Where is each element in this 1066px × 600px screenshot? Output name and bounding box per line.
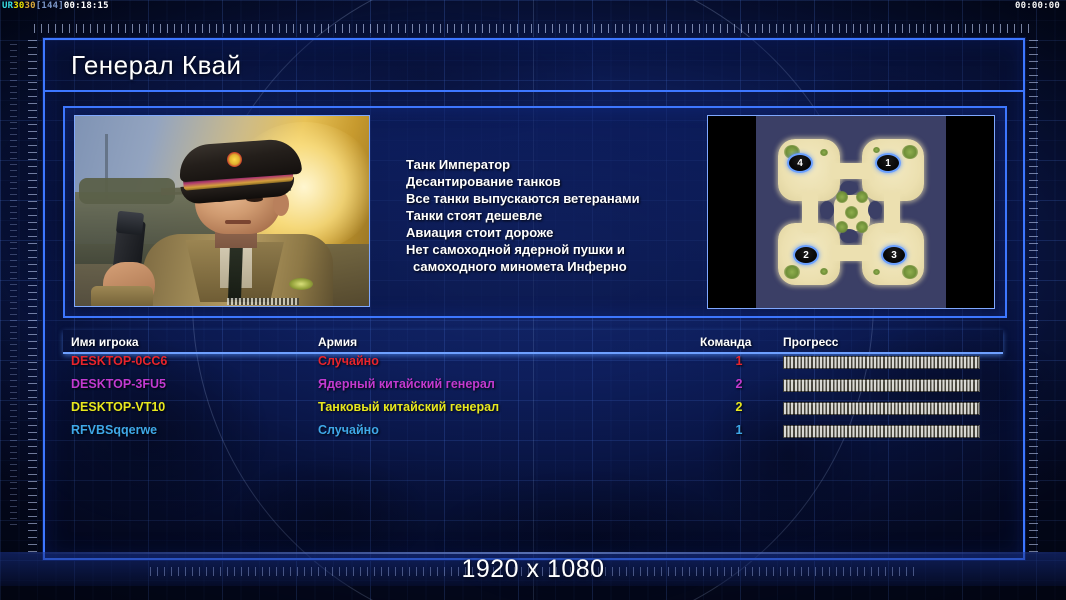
player-table-body: DESKTOP-0CC6 Случайно 1 DESKTOP-3FU5 Яде…	[63, 352, 1003, 538]
table-row[interactable]: DESKTOP-VT10 Танковый китайский генерал …	[63, 398, 1003, 421]
resolution-label: 1920 x 1080	[461, 555, 604, 584]
fps-overlay: UR3030[144]00:18:15	[2, 1, 109, 12]
ruler-ticks-left	[28, 40, 37, 554]
player-army: Танковый китайский генерал	[318, 400, 499, 414]
player-team: 1	[729, 423, 749, 437]
session-timer-right: 00:00:00	[1015, 1, 1060, 12]
player-team: 1	[729, 354, 749, 368]
page-title: Генерал Квай	[71, 50, 242, 81]
player-table-header: Имя игрока Армия Команда Прогресс	[63, 330, 1003, 354]
player-name: DESKTOP-VT10	[71, 400, 165, 414]
player-progress-bar	[783, 425, 980, 438]
player-team: 2	[729, 377, 749, 391]
player-name: DESKTOP-3FU5	[71, 377, 166, 391]
fps-extra: [144]	[36, 1, 64, 11]
table-row[interactable]: DESKTOP-3FU5 Ядерный китайский генерал 2	[63, 375, 1003, 398]
session-timer-left: 00:18:15	[64, 1, 109, 11]
minimap-preview: 4 1 2 3	[707, 115, 995, 309]
ruler-ticks-right	[1029, 40, 1038, 554]
player-progress-bar	[783, 402, 980, 415]
start-position-marker[interactable]: 3	[881, 245, 907, 265]
column-header-progress: Прогресс	[783, 335, 838, 349]
fps-value-secondary: 30	[25, 1, 36, 11]
window-title-bar: Генерал Квай	[45, 40, 1023, 92]
player-progress-bar	[783, 379, 980, 392]
column-header-player: Имя игрока	[71, 335, 139, 349]
table-row[interactable]: DESKTOP-0CC6 Случайно 1	[63, 352, 1003, 375]
player-army: Случайно	[318, 423, 379, 437]
column-header-army: Армия	[318, 335, 357, 349]
player-army: Случайно	[318, 354, 379, 368]
loading-window: Генерал Квай Танк Император Десантирован…	[43, 38, 1025, 560]
start-position-marker[interactable]: 4	[787, 153, 813, 173]
fps-label: UR	[2, 1, 13, 11]
game-screen: UR3030[144]00:18:15 00:00:00 Генерал Ква…	[0, 0, 1066, 600]
player-team: 2	[729, 400, 749, 414]
general-info-panel: Танк Император Десантирование танков Все…	[63, 106, 1007, 318]
general-portrait	[74, 115, 370, 307]
player-name: DESKTOP-0CC6	[71, 354, 167, 368]
start-position-marker[interactable]: 2	[793, 245, 819, 265]
table-row[interactable]: RFVBSqqerwe Случайно 1	[63, 421, 1003, 444]
resolution-banner: 1920 x 1080	[0, 552, 1066, 586]
player-progress-bar	[783, 356, 980, 369]
ruler-ticks-top	[34, 24, 1032, 33]
column-header-team: Команда	[700, 335, 751, 349]
player-army: Ядерный китайский генерал	[318, 377, 495, 391]
fps-value: 30	[13, 1, 24, 11]
player-name: RFVBSqqerwe	[71, 423, 157, 437]
start-position-marker[interactable]: 1	[875, 153, 901, 173]
ruler-ticks-left-outer	[10, 44, 17, 530]
